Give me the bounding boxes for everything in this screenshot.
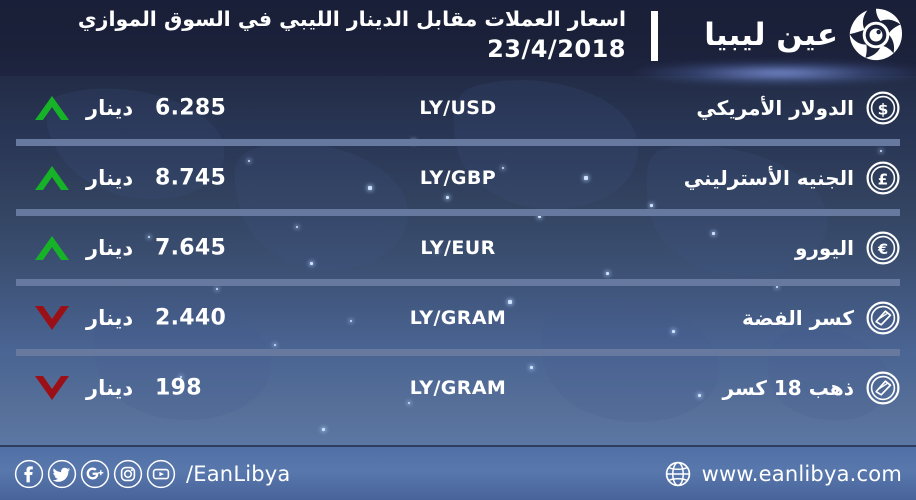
aperture-iris-icon xyxy=(848,7,904,67)
logo-label: عين ليبيا xyxy=(704,20,838,55)
header-divider xyxy=(651,11,658,61)
header-bar: اسعار العملات مقابل الدينار الليبي في ال… xyxy=(0,0,916,76)
currency-rates-card: اسعار العملات مقابل الدينار الليبي في ال… xyxy=(0,0,916,500)
dollar-coin-icon: $ xyxy=(866,91,900,125)
table-row[interactable]: دينار 7.645 LY/EUR اليورو € xyxy=(0,216,916,279)
svg-text:$: $ xyxy=(878,100,889,118)
globe-icon xyxy=(664,460,692,488)
gold-bar-icon xyxy=(866,371,900,405)
website-url[interactable]: www.eanlibya.com xyxy=(702,462,902,486)
googleplus-icon[interactable] xyxy=(80,459,110,489)
facebook-icon[interactable] xyxy=(14,459,44,489)
social-handle[interactable]: /EanLibya xyxy=(186,462,290,486)
currency-name: اليورو xyxy=(795,236,854,260)
youtube-icon[interactable] xyxy=(146,459,176,489)
header-title-block: اسعار العملات مقابل الدينار الليبي في ال… xyxy=(46,4,626,64)
rates-table: دينار 6.285 LY/USD الدولار الأمريكي $ دي… xyxy=(0,76,916,430)
pound-coin-icon: £ xyxy=(866,161,900,195)
report-date: 23/4/2018 xyxy=(46,34,626,64)
currency-name: كسر الفضة xyxy=(742,306,854,330)
table-row[interactable]: دينار 8.745 LY/GBP الجنيه الأسترليني £ xyxy=(0,146,916,209)
website-link[interactable]: www.eanlibya.com xyxy=(664,460,902,488)
footer-bar: /EanLibya www.eanlibya.com xyxy=(0,445,916,500)
euro-coin-icon: € xyxy=(866,231,900,265)
currency-name: الجنيه الأسترليني xyxy=(684,166,854,190)
row-separator xyxy=(16,139,900,146)
currency-name: الدولار الأمريكي xyxy=(696,96,854,120)
social-links: /EanLibya xyxy=(14,459,290,489)
silver-bar-icon xyxy=(866,301,900,335)
table-row[interactable]: دينار 2.440 LY/GRAM كسر الفضة xyxy=(0,286,916,349)
svg-text:€: € xyxy=(877,242,888,258)
table-row[interactable]: دينار 198 LY/GRAM ذهب 18 كسر xyxy=(0,356,916,419)
currency-pair: LY/EUR xyxy=(0,237,916,259)
row-separator xyxy=(16,349,900,356)
row-separator xyxy=(16,209,900,216)
page-title: اسعار العملات مقابل الدينار الليبي في ال… xyxy=(46,4,626,34)
brand-logo[interactable]: عين ليبيا xyxy=(704,4,904,70)
row-separator xyxy=(16,279,900,286)
currency-name: ذهب 18 كسر xyxy=(723,376,855,400)
svg-text:£: £ xyxy=(878,170,888,188)
twitter-icon[interactable] xyxy=(47,459,77,489)
instagram-icon[interactable] xyxy=(113,459,143,489)
